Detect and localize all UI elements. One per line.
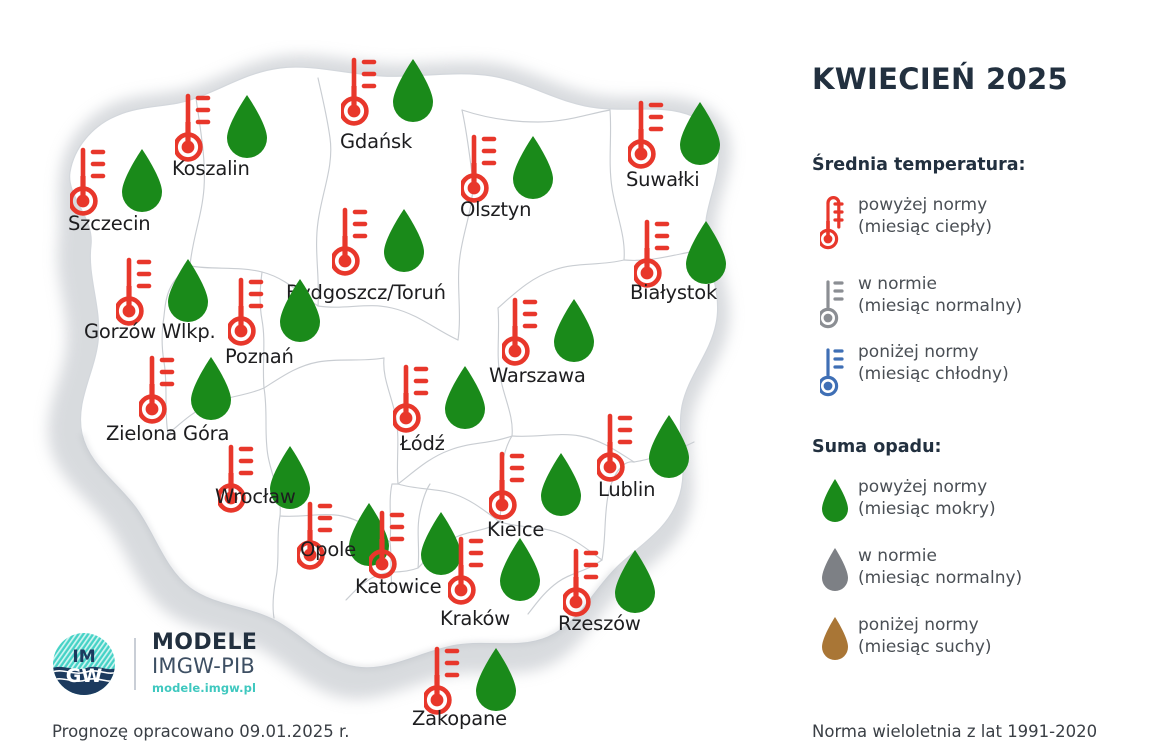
droplet-icon: [611, 547, 659, 619]
legend-item-prec-above: powyżej normy (miesiąc mokry): [812, 475, 996, 525]
droplet-icon: [496, 535, 544, 607]
thermometer-icon: [812, 340, 858, 400]
droplet-icon: [187, 354, 235, 426]
city-label: Białystok: [630, 281, 717, 304]
droplet-icon: [389, 56, 437, 128]
thermometer-icon: [218, 437, 262, 521]
legend-item-prec-normal: w normie (miesiąc normalny): [812, 544, 1022, 594]
city-label: Rzeszów: [558, 612, 641, 635]
infographic-root: SzczecinKoszalinGdańskSuwałkiOlsztynBiał…: [0, 0, 1160, 748]
city-label: Kraków: [440, 607, 510, 630]
thermometer-icon: [448, 529, 492, 613]
legend-item-text: powyżej normy (miesiąc mokry): [858, 475, 996, 521]
thermometer-icon: [812, 272, 858, 332]
thermometer-icon: [332, 200, 376, 284]
thermometer-icon: [341, 50, 385, 134]
legend-item-temp-above: powyżej normy (miesiąc ciepły): [812, 193, 992, 253]
legend-item-text: poniżej normy (miesiąc chłodny): [858, 340, 1009, 386]
droplet-icon: [812, 475, 858, 525]
city-label: Lublin: [598, 478, 655, 501]
station-icons: [341, 50, 437, 134]
droplet-icon: [645, 412, 693, 484]
station-icons: [393, 357, 489, 441]
station-icons: [139, 348, 235, 432]
thermometer-icon: [812, 193, 858, 253]
city-label: Wrocław: [215, 485, 296, 508]
thermometer-icon: [139, 348, 183, 432]
thermometer-icon: [628, 93, 672, 177]
logo-word-url[interactable]: modele.imgw.pl: [152, 681, 257, 695]
thermometer-icon: [228, 270, 272, 354]
droplet-icon: [550, 296, 598, 368]
legend-item-text: w normie (miesiąc normalny): [858, 544, 1022, 590]
temperature-legend-heading: Średnia temperatura:: [812, 155, 1026, 175]
station-icons: [332, 200, 428, 284]
thermometer-icon: [489, 444, 533, 528]
droplet-icon: [380, 206, 428, 278]
city-label: Gdańsk: [340, 130, 412, 153]
legend-item-temp-below: poniżej normy (miesiąc chłodny): [812, 340, 1009, 400]
droplet-icon: [682, 218, 730, 290]
droplet-icon: [441, 363, 489, 435]
legend-item-text: poniżej normy (miesiąc suchy): [858, 613, 992, 659]
droplet-icon: [812, 544, 858, 594]
station-icons: [628, 93, 724, 177]
logo-word-sub: IMGW-PIB: [152, 655, 257, 679]
droplet-icon: [812, 613, 858, 663]
station-icons: [448, 529, 544, 613]
droplet-icon: [537, 450, 585, 522]
station-icons: [228, 270, 324, 354]
city-label: Gorzów Wlkp.: [84, 320, 216, 343]
imgw-logo-text-top: IM: [72, 647, 95, 667]
city-label: Olsztyn: [460, 198, 531, 221]
legend-item-text: powyżej normy (miesiąc ciepły): [858, 193, 992, 239]
droplet-icon: [118, 146, 166, 218]
legend-item-prec-below: poniżej normy (miesiąc suchy): [812, 613, 992, 663]
thermometer-icon: [502, 290, 546, 374]
droplet-icon: [276, 276, 324, 348]
legend-item-temp-normal: w normie (miesiąc normalny): [812, 272, 1022, 332]
logo-word-main: MODELE: [152, 631, 257, 655]
precipitation-legend-heading: Suma opadu:: [812, 437, 942, 457]
city-label: Suwałki: [626, 168, 700, 191]
climate-norm-note: Norma wieloletnia z lat 1991-2020: [812, 722, 1097, 741]
city-label: Koszalin: [172, 157, 250, 180]
station-icons: [489, 444, 585, 528]
city-label: Opole: [300, 538, 356, 561]
logo-divider: [134, 638, 136, 690]
forecast-date-note: Prognozę opracowano 09.01.2025 r.: [52, 722, 350, 741]
droplet-icon: [676, 99, 724, 171]
droplet-icon: [223, 92, 271, 164]
logo-wordmark: MODELE IMGW-PIB modele.imgw.pl: [152, 631, 257, 695]
thermometer-icon: [297, 494, 341, 578]
droplet-icon: [164, 256, 212, 328]
city-label: Zakopane: [412, 707, 507, 730]
city-label: Warszawa: [489, 364, 586, 387]
imgw-logo-mark: IM GW: [52, 632, 116, 696]
legend-panel: KWIECIEŃ 2025 Średnia temperatura: powyż…: [790, 0, 1160, 748]
station-icons: [502, 290, 598, 374]
city-label: Katowice: [355, 575, 441, 598]
city-label: Łódź: [400, 432, 445, 455]
city-label: Poznań: [225, 345, 294, 368]
droplet-icon: [509, 133, 557, 205]
imgw-logo: IM GW MODELE IMGW-PIB modele.imgw.pl: [52, 632, 257, 696]
city-label: Zielona Góra: [106, 422, 229, 445]
city-label: Szczecin: [68, 212, 150, 235]
legend-item-text: w normie (miesiąc normalny): [858, 272, 1022, 318]
thermometer-icon: [393, 357, 437, 441]
imgw-logo-text-bottom: GW: [66, 665, 103, 687]
page-title: KWIECIEŃ 2025: [812, 62, 1068, 96]
